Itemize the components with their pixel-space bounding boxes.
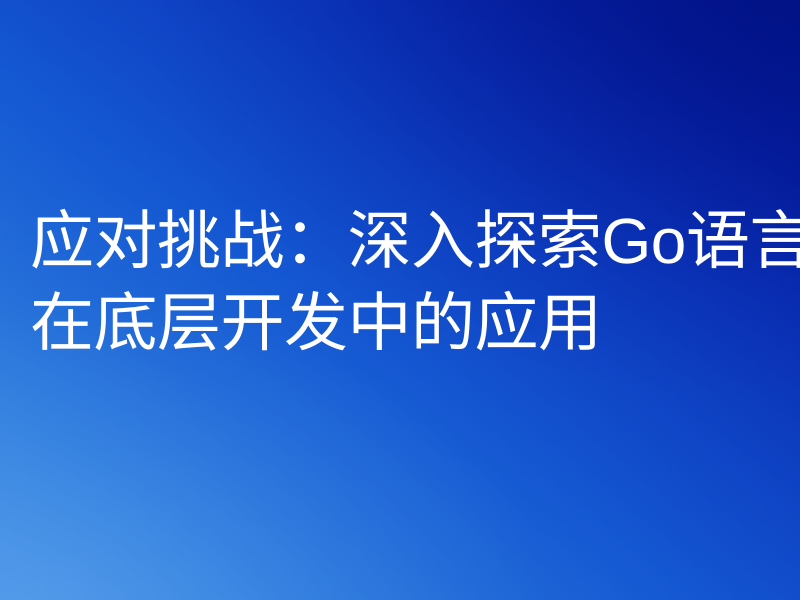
title-banner: 应对挑战：深入探索Go语言 在底层开发中的应用 [0, 0, 800, 600]
page-title: 应对挑战：深入探索Go语言 在底层开发中的应用 [30, 200, 790, 364]
page-title-line-2: 在底层开发中的应用 [30, 282, 790, 364]
gradient-wash-upper-right [0, 0, 800, 600]
page-title-line-1: 应对挑战：深入探索Go语言 [30, 200, 790, 282]
gradient-wash-lower-left [0, 0, 800, 600]
